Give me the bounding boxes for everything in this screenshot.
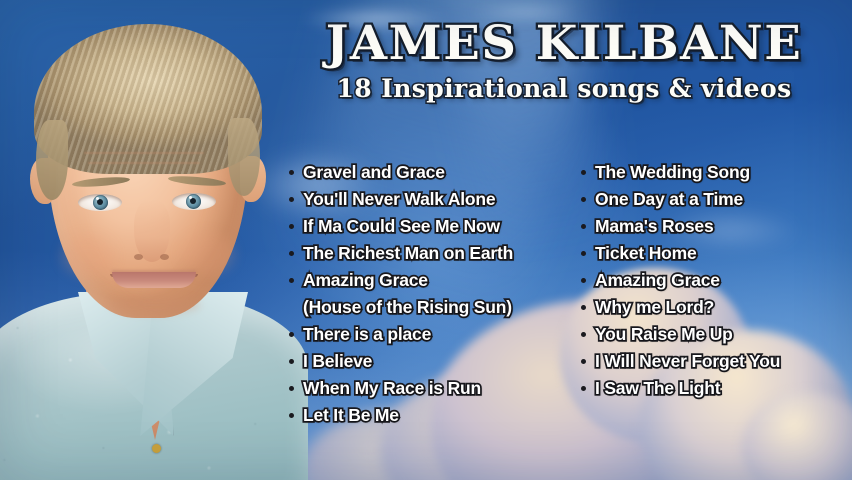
chin-shadow — [110, 296, 200, 314]
bullet-icon — [289, 197, 294, 202]
bullet-icon — [289, 332, 294, 337]
song-title-label: Mama's Roses — [595, 216, 714, 236]
tracklist-left-column: Gravel and GraceYou'll Never Walk AloneI… — [288, 160, 553, 430]
song-title-label: I Saw The Light — [595, 378, 720, 398]
subtitle-text: 18 Inspirational songs & videos — [284, 74, 844, 103]
song-list-item[interactable]: The Richest Man on Earth — [288, 241, 553, 268]
song-title-label: There is a place — [303, 324, 431, 344]
song-title-label: Ticket Home — [595, 243, 697, 263]
song-title-label: Gravel and Grace — [303, 162, 445, 182]
bullet-icon — [289, 413, 294, 418]
song-list-item[interactable]: Amazing Grace — [580, 268, 845, 295]
song-list-item[interactable]: Ticket Home — [580, 241, 845, 268]
forehead-line — [84, 152, 204, 154]
bullet-icon — [581, 305, 586, 310]
nose — [134, 200, 170, 262]
nostril-right — [160, 254, 169, 260]
cheek-right — [182, 234, 234, 274]
song-list-item[interactable]: I Saw The Light — [580, 376, 845, 403]
song-list-item[interactable]: Let It Be Me — [288, 403, 553, 430]
song-list-item[interactable]: There is a place — [288, 322, 553, 349]
song-list-item[interactable]: One Day at a Time — [580, 187, 845, 214]
song-title-label: Amazing Grace — [303, 270, 428, 290]
bullet-icon — [289, 251, 294, 256]
bullet-icon — [581, 224, 586, 229]
bullet-icon — [289, 278, 294, 283]
song-list-item[interactable]: You'll Never Walk Alone — [288, 187, 553, 214]
song-title-label: You'll Never Walk Alone — [303, 189, 495, 209]
promo-poster: JAMES KILBANE 18 Inspirational songs & v… — [0, 0, 852, 480]
eye-highlight-right — [189, 196, 192, 199]
bullet-icon — [289, 386, 294, 391]
song-list-item[interactable]: You Raise Me Up — [580, 322, 845, 349]
bullet-icon — [289, 224, 294, 229]
song-title-label: The Richest Man on Earth — [303, 243, 513, 263]
song-title-label: Amazing Grace — [595, 270, 720, 290]
song-title-label: I Will Never Forget You — [595, 351, 780, 371]
song-list-item[interactable]: If Ma Could See Me Now — [288, 214, 553, 241]
cheek-left — [62, 236, 114, 276]
song-title-label: You Raise Me Up — [595, 324, 733, 344]
bullet-icon — [289, 359, 294, 364]
sideburn-left — [36, 120, 68, 200]
song-title-label: Why me Lord? — [595, 297, 714, 317]
bullet-icon — [581, 251, 586, 256]
bullet-icon — [289, 170, 294, 175]
song-list-item[interactable]: I Will Never Forget You — [580, 349, 845, 376]
bullet-icon — [581, 332, 586, 337]
song-title-label: The Wedding Song — [595, 162, 750, 182]
song-title-label: (House of the Rising Sun) — [303, 297, 512, 317]
song-list-item[interactable]: The Wedding Song — [580, 160, 845, 187]
song-title-label: When My Race is Run — [303, 378, 481, 398]
bullet-icon — [581, 359, 586, 364]
bullet-icon — [581, 386, 586, 391]
nostril-left — [134, 254, 143, 260]
title-block: JAMES KILBANE 18 Inspirational songs & v… — [284, 20, 844, 103]
song-list-item[interactable]: (House of the Rising Sun) — [288, 295, 553, 322]
song-list-item[interactable]: Gravel and Grace — [288, 160, 553, 187]
song-list-item[interactable]: I Believe — [288, 349, 553, 376]
forehead-line — [88, 162, 200, 164]
song-title-label: Let It Be Me — [303, 405, 399, 425]
tracklist-right-column: The Wedding SongOne Day at a TimeMama's … — [580, 160, 845, 403]
song-list-item[interactable]: When My Race is Run — [288, 376, 553, 403]
shirt-button — [152, 444, 161, 453]
bullet-icon — [581, 170, 586, 175]
bullet-icon — [581, 278, 586, 283]
song-list-item[interactable]: Amazing Grace — [288, 268, 553, 295]
song-title-label: If Ma Could See Me Now — [303, 216, 500, 236]
bullet-icon — [581, 197, 586, 202]
mouth — [112, 272, 196, 288]
eye-highlight-left — [96, 197, 99, 200]
song-title-label: One Day at a Time — [595, 189, 743, 209]
song-title-label: I Believe — [303, 351, 372, 371]
artist-name-title: JAMES KILBANE — [278, 20, 849, 68]
song-list-item[interactable]: Why me Lord? — [580, 295, 845, 322]
song-list-item[interactable]: Mama's Roses — [580, 214, 845, 241]
